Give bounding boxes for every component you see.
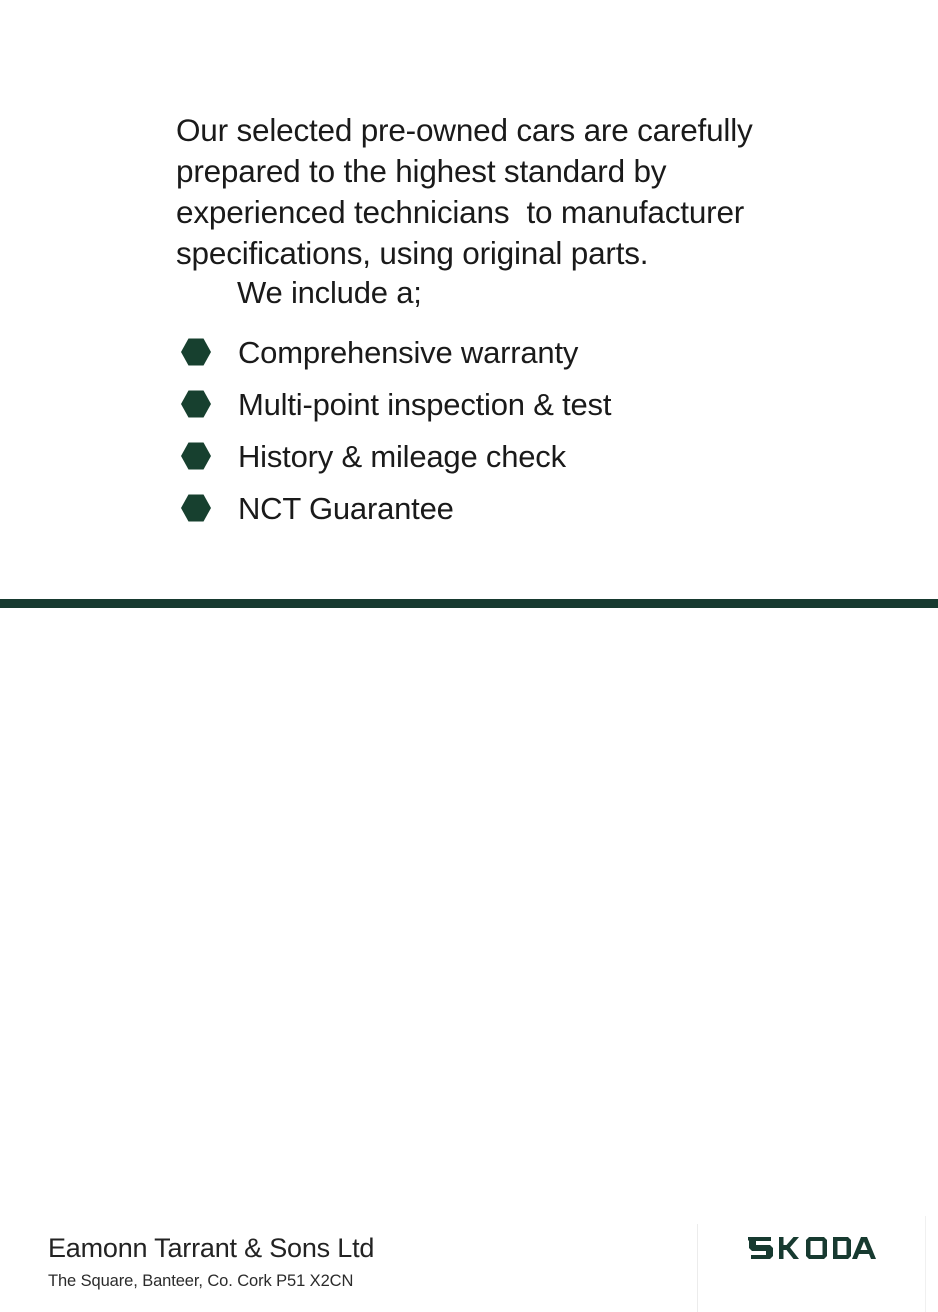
hexagon-bullet-icon [181,390,211,418]
footer-green-rule [0,599,938,608]
footer-bar: Eamonn Tarrant & Sons Ltd The Square, Ba… [0,608,938,704]
hexagon-bullet-icon [181,442,211,470]
hexagon-bullet-icon [181,494,211,522]
footer-vertical-divider [697,1224,698,1312]
include-lead-text: We include a; [237,274,422,312]
skoda-wordmark-logo [748,1236,892,1260]
list-item: History & mileage check [181,430,611,482]
footer-right-edge [925,1216,926,1312]
dealer-address: The Square, Banteer, Co. Cork P51 X2CN [48,1272,353,1290]
list-item: Comprehensive warranty [181,326,611,378]
hexagon-bullet-icon [181,338,211,366]
list-item-label: Multi-point inspection & test [238,389,611,420]
dealer-name: Eamonn Tarrant & Sons Ltd [48,1234,374,1264]
slide-canvas: Our selected pre-owned cars are carefull… [0,0,938,704]
list-item-label: NCT Guarantee [238,493,454,524]
list-item: Multi-point inspection & test [181,378,611,430]
list-item: NCT Guarantee [181,482,611,534]
benefits-list: Comprehensive warranty Multi-point inspe… [181,326,611,534]
list-item-label: History & mileage check [238,441,566,472]
list-item-label: Comprehensive warranty [238,337,578,368]
intro-paragraph: Our selected pre-owned cars are carefull… [176,110,788,274]
